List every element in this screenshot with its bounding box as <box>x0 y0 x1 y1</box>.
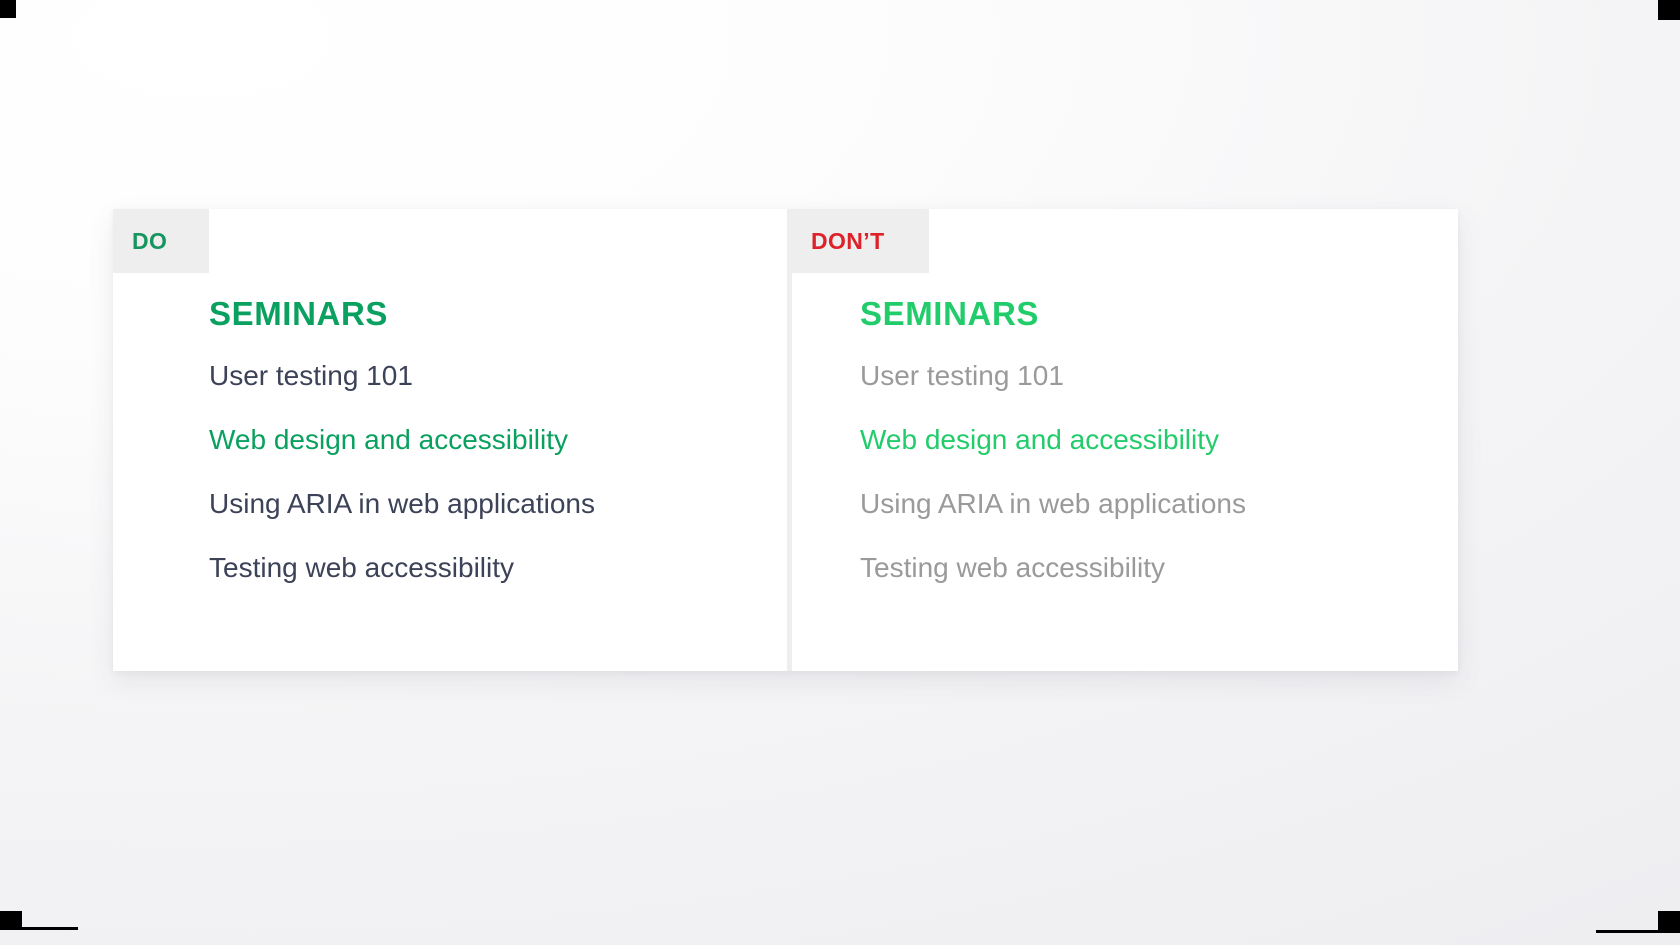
do-seminar-item-4[interactable]: Testing web accessibility <box>209 554 763 582</box>
crop-mark-top-left <box>0 0 34 30</box>
dont-card: DON’T SEMINARS User testing 101 Web desi… <box>792 209 1458 671</box>
dont-seminar-item-1[interactable]: User testing 101 <box>860 362 1434 390</box>
do-card: DO SEMINARS User testing 101 Web design … <box>113 209 787 671</box>
dont-card-content: SEMINARS User testing 101 Web design and… <box>860 295 1434 582</box>
do-seminar-item-3[interactable]: Using ARIA in web applications <box>209 490 763 518</box>
do-badge-label: DO <box>132 228 167 255</box>
do-badge: DO <box>113 209 189 273</box>
dont-seminars-heading: SEMINARS <box>860 295 1434 333</box>
dont-seminar-item-4[interactable]: Testing web accessibility <box>860 554 1434 582</box>
dont-seminar-item-3[interactable]: Using ARIA in web applications <box>860 490 1434 518</box>
crop-mark-bottom-right <box>1600 911 1680 945</box>
dont-badge: DON’T <box>792 209 907 273</box>
do-seminars-heading: SEMINARS <box>209 295 763 333</box>
crop-mark-bottom-left <box>0 911 80 945</box>
do-dont-comparison-panel: DO SEMINARS User testing 101 Web design … <box>113 209 1458 671</box>
do-seminar-item-2[interactable]: Web design and accessibility <box>209 426 763 454</box>
dont-seminar-list: User testing 101 Web design and accessib… <box>860 362 1434 582</box>
dont-seminar-item-2[interactable]: Web design and accessibility <box>860 426 1434 454</box>
do-seminar-item-1[interactable]: User testing 101 <box>209 362 763 390</box>
page-background: DO SEMINARS User testing 101 Web design … <box>0 0 1680 945</box>
do-seminar-list: User testing 101 Web design and accessib… <box>209 362 763 582</box>
do-card-content: SEMINARS User testing 101 Web design and… <box>209 295 763 582</box>
dont-badge-label: DON’T <box>811 228 885 255</box>
crop-mark-top-right <box>1646 0 1680 30</box>
